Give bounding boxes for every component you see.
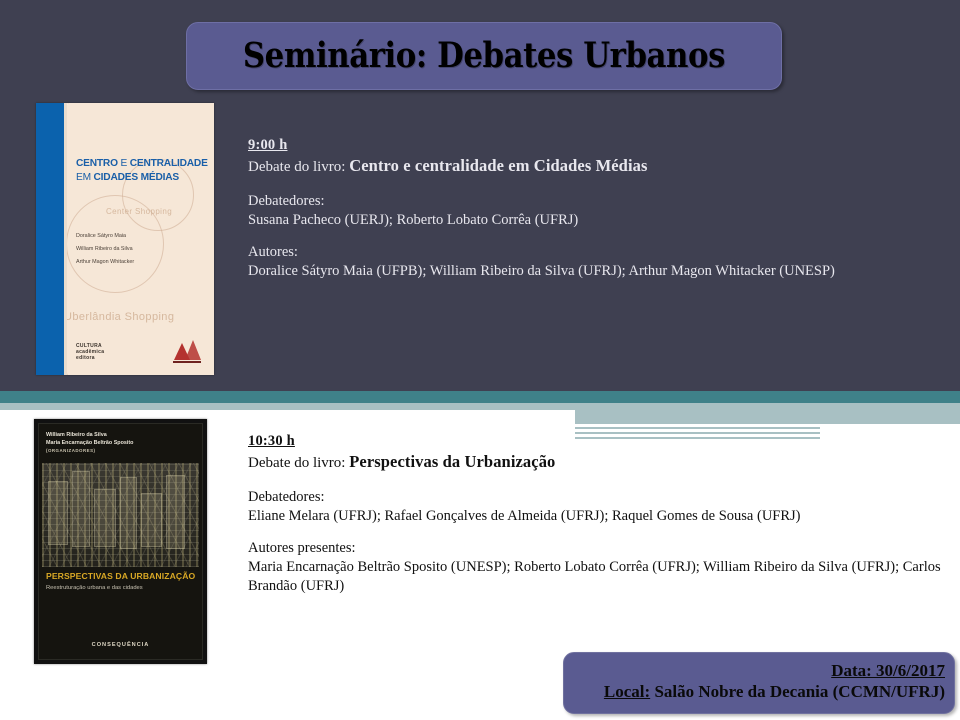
book-cover-perspectivas-da-urbanizacao: William Ribeiro da Silva Maria Encarnaçã…: [34, 419, 207, 664]
cover2-organizer: William Ribeiro da Silva: [46, 431, 133, 439]
session-1-time-row: 9:00 h: [248, 136, 948, 155]
seminar-title-plate: Seminário: Debates Urbanos: [186, 22, 782, 90]
cover2-building: [120, 477, 137, 549]
cover1-ghost-label: Center Shopping: [106, 207, 172, 216]
slide-canvas: Seminário: Debates Urbanos Center Shoppi…: [0, 0, 960, 720]
cover1-title-part: CENTRO: [76, 158, 120, 169]
session-1-book-prefix: Debate do livro:: [248, 159, 349, 175]
event-location: Local: Salão Nobre da Decania (CCMN/UFRJ…: [604, 682, 945, 702]
book-cover-centro-e-centralidade: Center Shopping Uberlândia Shopping CENT…: [36, 103, 214, 375]
band-stripe: [866, 410, 960, 419]
cover1-ghost-label: Uberlândia Shopping: [64, 311, 174, 323]
session-2-autores: Autores presentes: Maria Encarnação Belt…: [248, 539, 948, 596]
session-2-debatedores-list: Eliane Melara (UFRJ); Rafael Gonçalves d…: [248, 507, 948, 526]
session-2-time-row: 10:30 h: [248, 432, 948, 451]
cover1-spine: [36, 103, 64, 375]
session-1-book-line: Debate do livro: Centro e centralidade e…: [248, 155, 948, 178]
session-block-2: 10:30 h Debate do livro: Perspectivas da…: [248, 432, 948, 596]
session-2-autores-label: Autores presentes:: [248, 539, 948, 558]
cover2-building: [166, 475, 185, 549]
cover2-organizers-role: (ORGANIZADORES): [46, 447, 133, 455]
cover2-building: [48, 481, 68, 545]
cover2-building: [72, 471, 90, 547]
session-2-debatedores-label: Debatedores:: [248, 488, 948, 507]
event-location-value: Salão Nobre da Decania (CCMN/UFRJ): [650, 682, 945, 701]
cover1-title-part: CENTRALIDADE: [127, 158, 208, 169]
cover2-city-illustration: [42, 463, 199, 567]
cover1-authors: Doralice Sátyro Maia William Ribeiro da …: [76, 230, 206, 269]
cover1-title: CENTRO E CENTRALIDADE EM CIDADES MÉDIAS: [76, 157, 210, 185]
session-2-book-title: Perspectivas da Urbanização: [349, 452, 555, 471]
band-teal-bar: [0, 391, 960, 403]
cover2-subtitle: Reestruturação urbana e das cidades: [46, 585, 197, 591]
cover1-title-part: EM: [76, 172, 94, 183]
cover1-spine-edge: [64, 103, 67, 375]
session-1-autores-list: Doralice Sátyro Maia (UFPB); William Rib…: [248, 262, 948, 281]
session-1-debatedores-list: Susana Pacheco (UERJ); Roberto Lobato Co…: [248, 211, 948, 230]
session-2-book-line: Debate do livro: Perspectivas da Urbaniz…: [248, 451, 948, 474]
session-2-autores-list: Maria Encarnação Beltrão Sposito (UNESP)…: [248, 558, 948, 596]
cover1-publisher-logo-icon: [170, 337, 204, 363]
cover2-title: PERSPECTIVAS DA URBANIZAÇÃO: [46, 571, 197, 581]
session-1-autores: Autores: Doralice Sátyro Maia (UFPB); Wi…: [248, 243, 948, 281]
cover1-author: Arthur Magon Whitacker: [76, 256, 206, 269]
band-stripe: [780, 419, 960, 424]
cover2-organizers: William Ribeiro da Silva Maria Encarnaçã…: [46, 431, 133, 455]
session-2-time: 10:30 h: [248, 433, 295, 450]
cover2-publisher: CONSEQUÊNCIA: [34, 642, 207, 648]
session-2-debatedores: Debatedores: Eliane Melara (UFRJ); Rafae…: [248, 488, 948, 526]
band-gray-bar: [70, 403, 960, 410]
event-info-plate: Data: 30/6/2017 Local: Salão Nobre da De…: [563, 652, 955, 714]
session-block-1: 9:00 h Debate do livro: Centro e central…: [248, 136, 948, 281]
cover1-publisher: CULTURA acadêmica editora: [76, 343, 104, 361]
event-location-label: Local:: [604, 682, 650, 701]
session-1-debatedores-label: Debatedores:: [248, 192, 948, 211]
cover2-building: [94, 489, 116, 547]
cover1-author: Doralice Sátyro Maia: [76, 230, 206, 243]
cover2-organizer: Maria Encarnação Beltrão Sposito: [46, 439, 133, 447]
band-gray-left: [0, 403, 70, 410]
session-1-debatedores: Debatedores: Susana Pacheco (UERJ); Robe…: [248, 192, 948, 230]
page-title: Seminário: Debates Urbanos: [243, 38, 725, 74]
band-stripe: [575, 427, 820, 429]
cover1-title-part: CIDADES MÉDIAS: [94, 172, 180, 183]
session-2-book-prefix: Debate do livro:: [248, 455, 349, 471]
cover1-author: William Ribeiro da Silva: [76, 243, 206, 256]
cover1-publisher-line: editora: [76, 355, 104, 361]
cover2-building: [141, 493, 162, 547]
session-1-book-title: Centro e centralidade em Cidades Médias: [349, 156, 647, 175]
session-1-autores-label: Autores:: [248, 243, 948, 262]
event-date: Data: 30/6/2017: [831, 661, 945, 681]
session-1-time: 9:00 h: [248, 137, 287, 154]
